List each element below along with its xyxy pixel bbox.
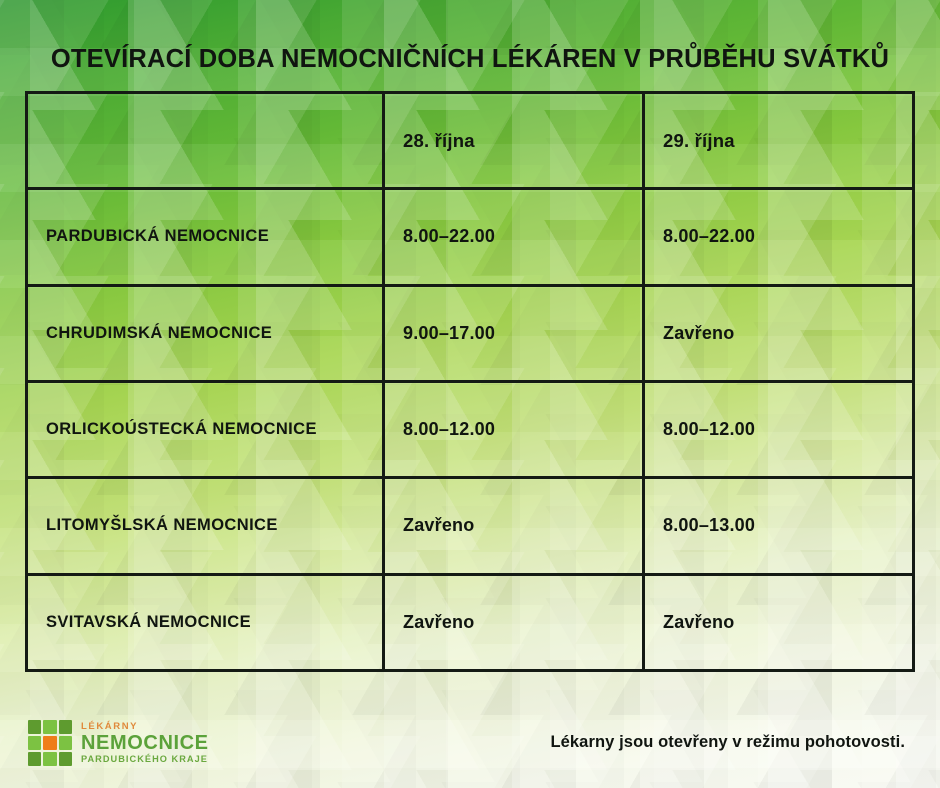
hospital-name: LITOMYŠLSKÁ NEMOCNICE (28, 479, 385, 572)
hospital-name: CHRUDIMSKÁ NEMOCNICE (28, 287, 385, 380)
hours-day1: 8.00–12.00 (385, 383, 645, 476)
table-header-cell-name (28, 94, 385, 187)
logo-square-right (59, 736, 72, 750)
table-header-cell-day2: 29. října (645, 94, 912, 187)
table-header-cell-day1: 28. října (385, 94, 645, 187)
logo-line-lekarny: LÉKÁRNY (81, 722, 209, 732)
logo-square-center (43, 736, 56, 750)
footer: LÉKÁRNY NEMOCNICE PARDUBICKÉHO KRAJE Lék… (0, 678, 940, 788)
logo-square-bottom-right (59, 752, 72, 766)
logo-square-bottom (43, 752, 56, 766)
hours-day2: Zavřeno (645, 576, 912, 669)
footer-note: Lékarny jsou otevřeny v režimu pohotovos… (550, 733, 905, 752)
hours-day1: 8.00–22.00 (385, 190, 645, 283)
hospital-name: PARDUBICKÁ NEMOCNICE (28, 190, 385, 283)
page-title: OTEVÍRACÍ DOBA NEMOCNIČNÍCH LÉKÁREN V PR… (0, 45, 940, 74)
hours-day2: 8.00–12.00 (645, 383, 912, 476)
table-row: SVITAVSKÁ NEMOCNICE Zavřeno Zavřeno (28, 576, 912, 669)
logo-line-nemocnice: NEMOCNICE (81, 733, 209, 753)
table-row: LITOMYŠLSKÁ NEMOCNICE Zavřeno 8.00–13.00 (28, 479, 912, 575)
logo-square-bottom-left (28, 752, 41, 766)
table-row: ORLICKOÚSTECKÁ NEMOCNICE 8.00–12.00 8.00… (28, 383, 912, 479)
hours-day2: 8.00–13.00 (645, 479, 912, 572)
hospital-name: SVITAVSKÁ NEMOCNICE (28, 576, 385, 669)
hours-day1: Zavřeno (385, 479, 645, 572)
hours-day1: 9.00–17.00 (385, 287, 645, 380)
logo-square-top-left (28, 720, 41, 734)
logo: LÉKÁRNY NEMOCNICE PARDUBICKÉHO KRAJE (28, 720, 209, 766)
hospital-name: ORLICKOÚSTECKÁ NEMOCNICE (28, 383, 385, 476)
hours-day1: Zavřeno (385, 576, 645, 669)
hours-day2: Zavřeno (645, 287, 912, 380)
table-row: PARDUBICKÁ NEMOCNICE 8.00–22.00 8.00–22.… (28, 190, 912, 286)
logo-square-top-right (59, 720, 72, 734)
logo-square-top (43, 720, 56, 734)
poster-root: OTEVÍRACÍ DOBA NEMOCNIČNÍCH LÉKÁREN V PR… (0, 0, 940, 788)
table-row: CHRUDIMSKÁ NEMOCNICE 9.00–17.00 Zavřeno (28, 287, 912, 383)
table-header-row: 28. října 29. října (28, 94, 912, 190)
hours-day2: 8.00–22.00 (645, 190, 912, 283)
logo-line-region: PARDUBICKÉHO KRAJE (81, 755, 209, 764)
logo-wordmark: LÉKÁRNY NEMOCNICE PARDUBICKÉHO KRAJE (81, 722, 209, 765)
opening-hours-table: 28. října 29. října PARDUBICKÁ NEMOCNICE… (25, 91, 915, 672)
logo-square-left (28, 736, 41, 750)
pharmacy-cross-icon (28, 720, 72, 766)
